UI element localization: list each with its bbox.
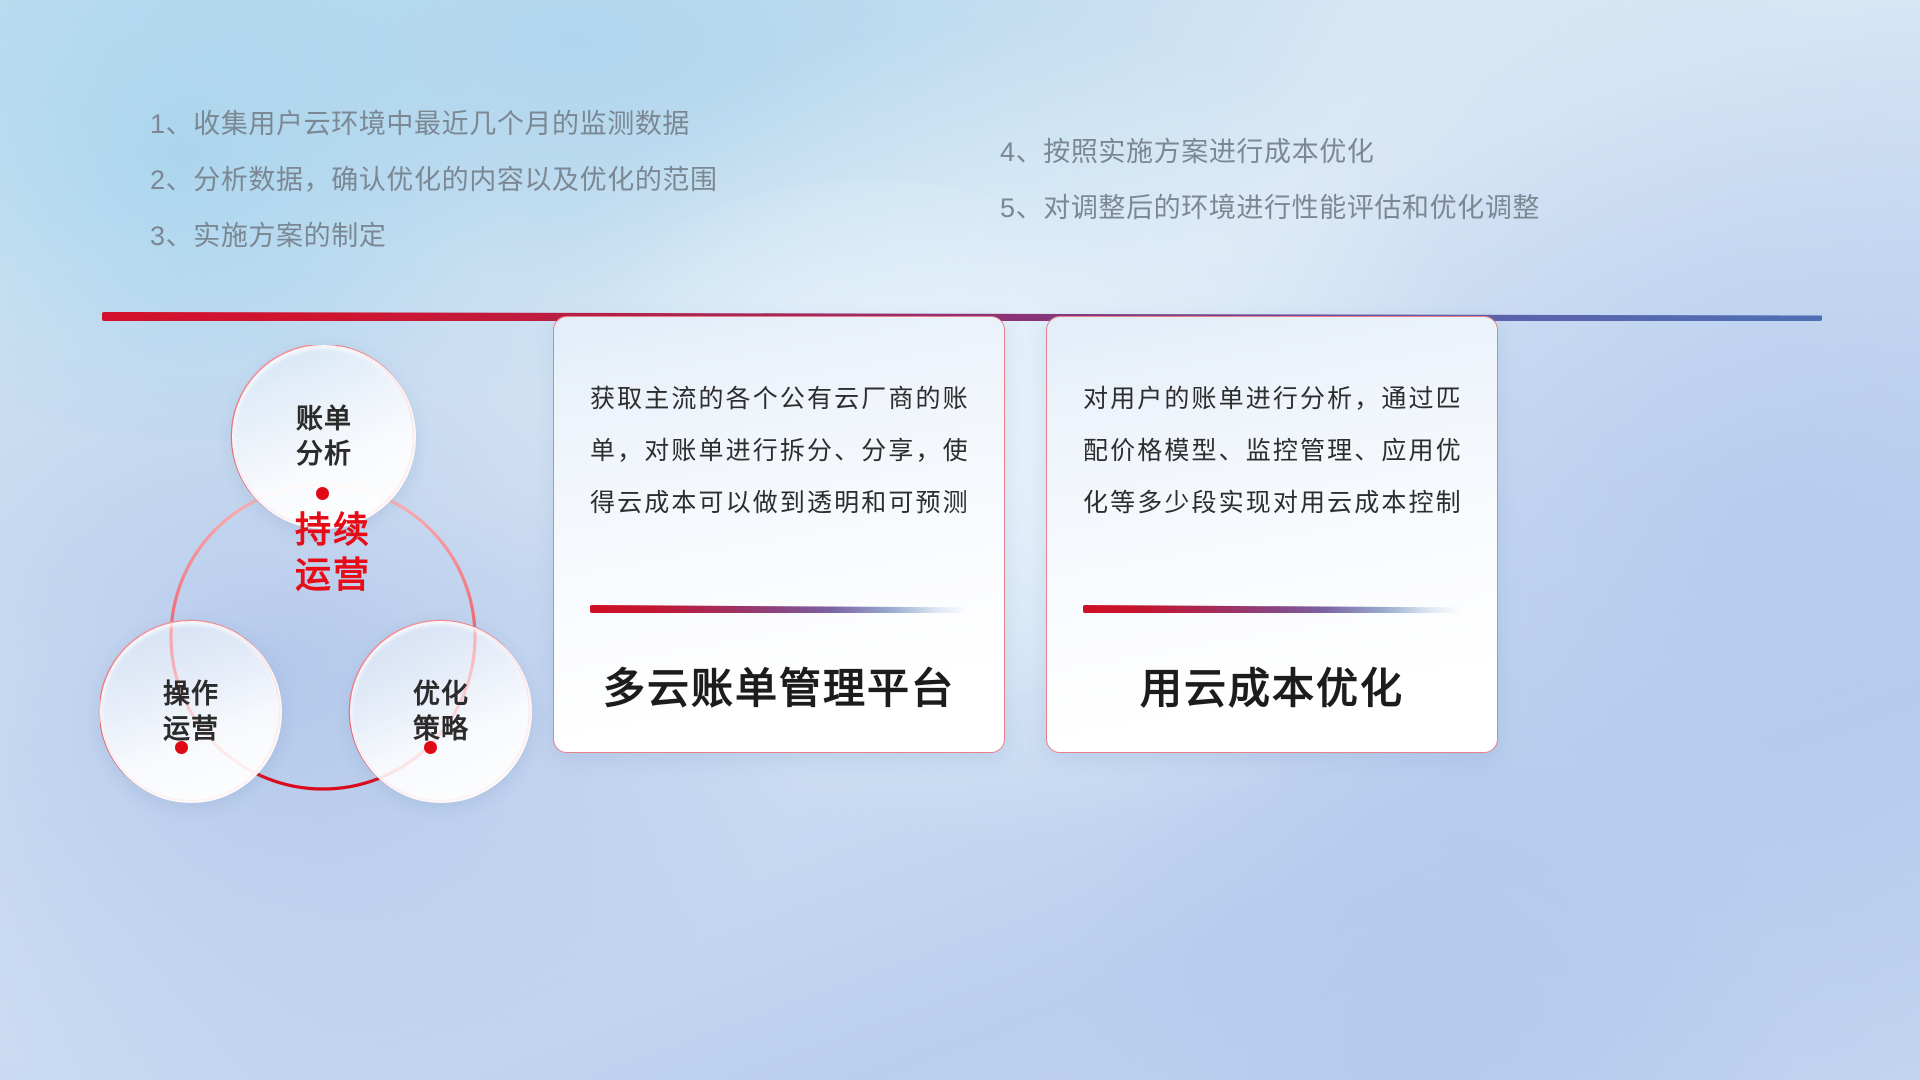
connector-dot-bottom-right	[424, 741, 437, 754]
diagram-node-bill-analysis[interactable]: 账单 分析	[232, 345, 416, 529]
card-title: 用云成本优化	[1083, 655, 1461, 716]
connector-dot-bottom-left	[175, 741, 188, 754]
step-item-3: 3、实施方案的制定	[150, 208, 1000, 264]
card-title: 多云账单管理平台	[590, 655, 968, 716]
card-body-text: 对用户的账单进行分析，通过匹配价格模型、监控管理、应用优化等多少段实现对用云成本…	[1083, 373, 1461, 587]
diagram-center-label: 持续 运营	[253, 507, 413, 597]
steps-list: 1、收集用户云环境中最近几个月的监测数据 2、分析数据，确认优化的内容以及优化的…	[150, 96, 1830, 264]
steps-left-column: 1、收集用户云环境中最近几个月的监测数据 2、分析数据，确认优化的内容以及优化的…	[150, 96, 1000, 264]
card-divider	[1083, 605, 1461, 613]
feature-card-cost-optimization[interactable]: 对用户的账单进行分析，通过匹配价格模型、监控管理、应用优化等多少段实现对用云成本…	[1046, 316, 1498, 753]
step-item-2: 2、分析数据，确认优化的内容以及优化的范围	[150, 152, 1000, 208]
background-glow-bottom-right	[980, 760, 1880, 1080]
slide-canvas: 1、收集用户云环境中最近几个月的监测数据 2、分析数据，确认优化的内容以及优化的…	[0, 0, 1920, 1080]
card-divider	[590, 605, 968, 613]
diagram-node-bottom-right-label: 优化 策略	[413, 677, 469, 746]
diagram-center-label-line2: 运营	[253, 552, 413, 597]
diagram-node-top-label: 账单 分析	[296, 402, 352, 471]
connector-dot-top	[316, 487, 329, 500]
continuous-operation-diagram: 账单 分析 操作 运营 优化 策略 持续 运营	[100, 345, 570, 945]
diagram-node-optimization-strategy[interactable]: 优化 策略	[350, 621, 532, 803]
steps-right-column: 4、按照实施方案进行成本优化 5、对调整后的环境进行性能评估和优化调整	[1000, 96, 1800, 264]
card-body-text: 获取主流的各个公有云厂商的账单，对账单进行拆分、分享，使得云成本可以做到透明和可…	[590, 373, 968, 587]
feature-card-multicloud-billing[interactable]: 获取主流的各个公有云厂商的账单，对账单进行拆分、分享，使得云成本可以做到透明和可…	[553, 316, 1005, 753]
diagram-node-bottom-left-label: 操作 运营	[163, 677, 219, 746]
step-item-1: 1、收集用户云环境中最近几个月的监测数据	[150, 96, 1000, 152]
diagram-node-operations[interactable]: 操作 运营	[100, 621, 282, 803]
step-item-5: 5、对调整后的环境进行性能评估和优化调整	[1000, 180, 1800, 236]
step-item-4: 4、按照实施方案进行成本优化	[1000, 124, 1800, 180]
diagram-center-label-line1: 持续	[253, 507, 413, 552]
